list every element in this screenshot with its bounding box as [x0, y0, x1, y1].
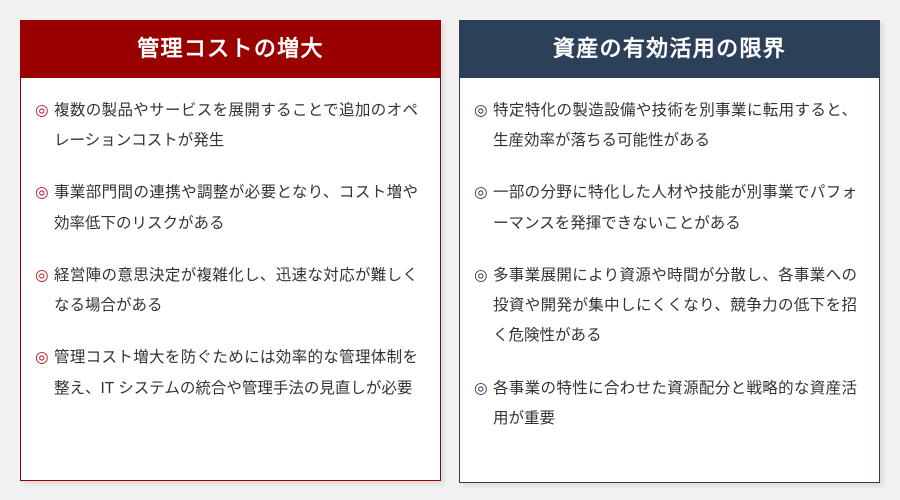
list-item: ◎ 各事業の特性に合わせた資源配分と戦略的な資産活用が重要 [474, 374, 857, 434]
double-circle-icon: ◎ [35, 178, 54, 208]
double-circle-icon: ◎ [35, 96, 54, 126]
bullet-list-management-cost: ◎ 複数の製品やサービスを展開することで追加のオペレーションコストが発生 ◎ 事… [35, 96, 418, 404]
card-body-asset-utilization: ◎ 特定特化の製造設備や技術を別事業に転用すると、生産効率が落ちる可能性がある … [460, 78, 879, 482]
bullet-list-asset-utilization: ◎ 特定特化の製造設備や技術を別事業に転用すると、生産効率が落ちる可能性がある … [474, 96, 857, 434]
list-item-text: 特定特化の製造設備や技術を別事業に転用すると、生産効率が落ちる可能性がある [493, 96, 857, 156]
card-management-cost: 管理コストの増大 ◎ 複数の製品やサービスを展開することで追加のオペレーションコ… [20, 20, 441, 481]
list-item-text: 複数の製品やサービスを展開することで追加のオペレーションコストが発生 [54, 96, 418, 156]
card-title-management-cost: 管理コストの増大 [20, 20, 441, 78]
list-item-text: 一部の分野に特化した人材や技能が別事業でパフォーマンスを発揮できないことがある [493, 178, 857, 238]
list-item-text: 管理コスト増大を防ぐためには効率的な管理体制を整え、IT システムの統合や管理手… [54, 343, 418, 403]
comparison-board: 管理コストの増大 ◎ 複数の製品やサービスを展開することで追加のオペレーションコ… [0, 0, 900, 500]
double-circle-icon: ◎ [474, 261, 493, 291]
list-item-text: 事業部門間の連携や調整が必要となり、コスト増や効率低下のリスクがある [54, 178, 418, 238]
list-item: ◎ 事業部門間の連携や調整が必要となり、コスト増や効率低下のリスクがある [35, 178, 418, 238]
list-item-text: 各事業の特性に合わせた資源配分と戦略的な資産活用が重要 [493, 374, 857, 434]
list-item: ◎ 多事業展開により資源や時間が分散し、各事業への投資や開発が集中しにくくなり、… [474, 261, 857, 352]
double-circle-icon: ◎ [474, 96, 493, 126]
card-asset-utilization: 資産の有効活用の限界 ◎ 特定特化の製造設備や技術を別事業に転用すると、生産効率… [459, 20, 880, 483]
list-item: ◎ 特定特化の製造設備や技術を別事業に転用すると、生産効率が落ちる可能性がある [474, 96, 857, 156]
list-item: ◎ 一部の分野に特化した人材や技能が別事業でパフォーマンスを発揮できないことがあ… [474, 178, 857, 238]
double-circle-icon: ◎ [35, 343, 54, 373]
list-item-text: 多事業展開により資源や時間が分散し、各事業への投資や開発が集中しにくくなり、競争… [493, 261, 857, 352]
card-body-management-cost: ◎ 複数の製品やサービスを展開することで追加のオペレーションコストが発生 ◎ 事… [21, 78, 440, 480]
list-item: ◎ 管理コスト増大を防ぐためには効率的な管理体制を整え、IT システムの統合や管… [35, 343, 418, 403]
list-item: ◎ 複数の製品やサービスを展開することで追加のオペレーションコストが発生 [35, 96, 418, 156]
double-circle-icon: ◎ [474, 374, 493, 404]
card-title-asset-utilization: 資産の有効活用の限界 [459, 20, 880, 78]
double-circle-icon: ◎ [474, 178, 493, 208]
list-item: ◎ 経営陣の意思決定が複雑化し、迅速な対応が難しくなる場合がある [35, 261, 418, 321]
list-item-text: 経営陣の意思決定が複雑化し、迅速な対応が難しくなる場合がある [54, 261, 418, 321]
double-circle-icon: ◎ [35, 261, 54, 291]
